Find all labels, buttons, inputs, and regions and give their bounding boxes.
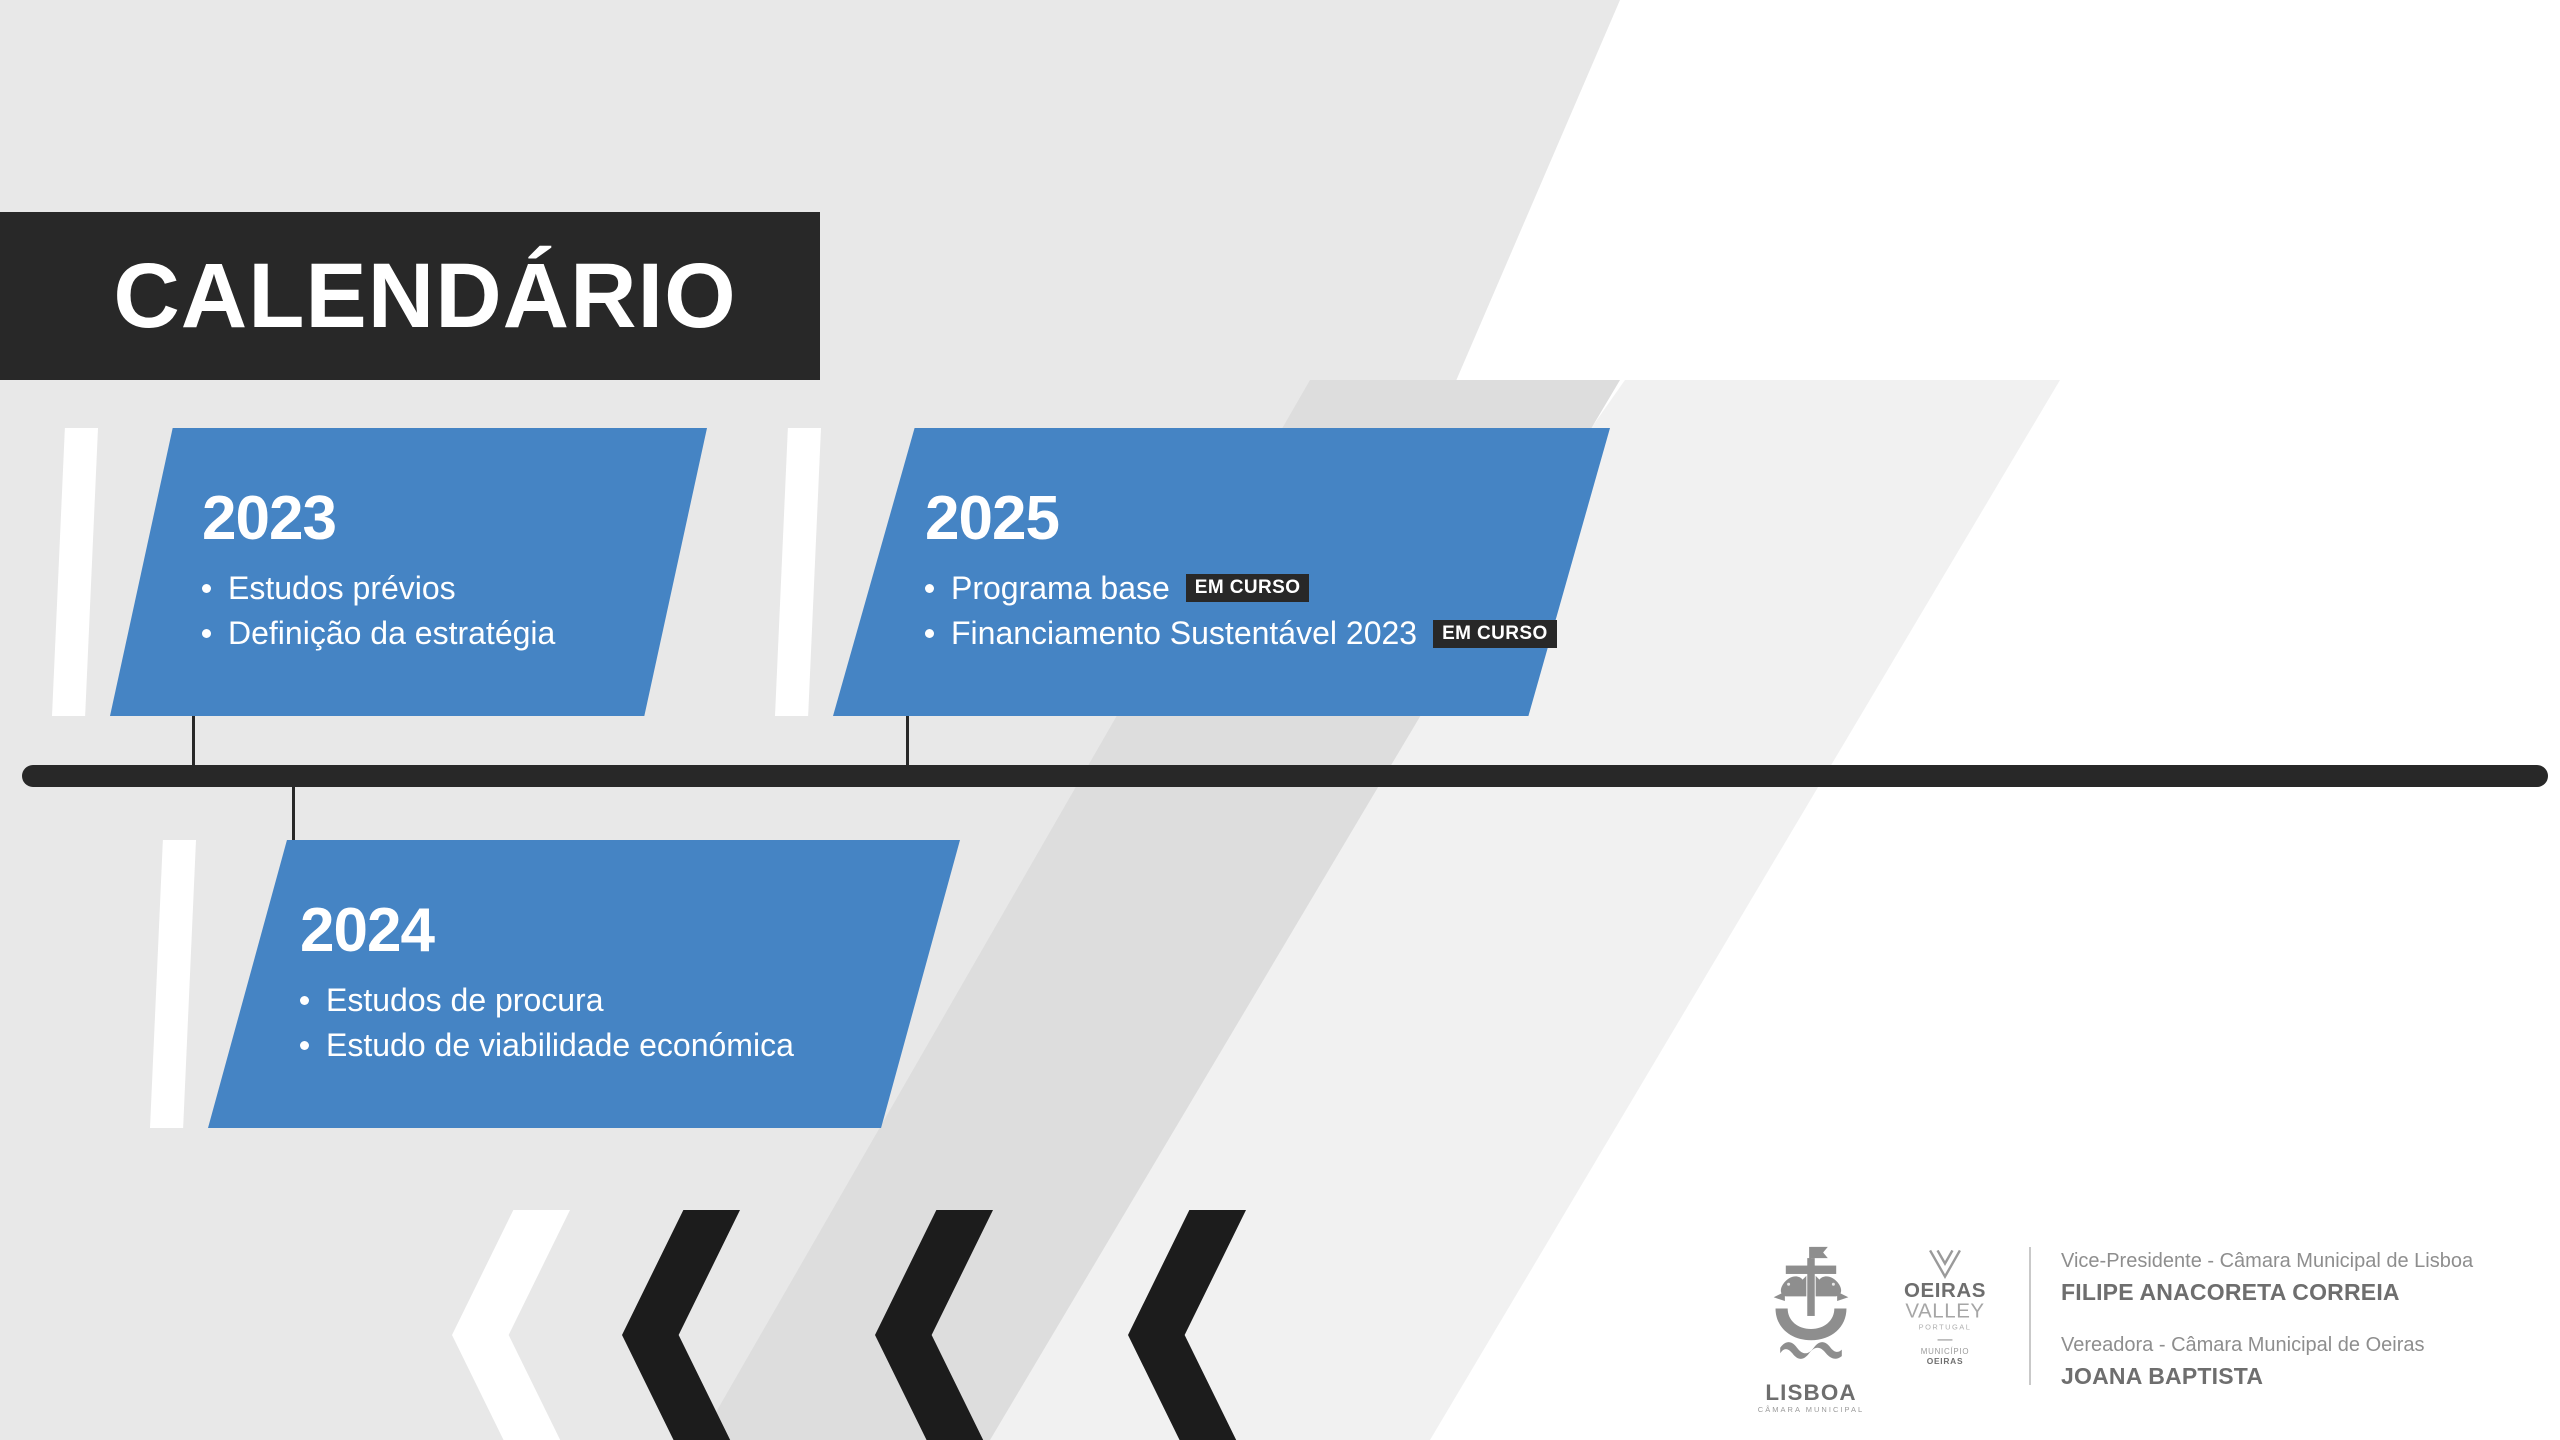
list-item: Programa base EM CURSO (925, 566, 1557, 611)
card-accent-slash (150, 840, 196, 1128)
person-role: Vereadora - Câmara Municipal de Oeiras (2061, 1331, 2473, 1360)
list-item: Estudo de viabilidade económica (300, 1023, 794, 1068)
milestone-card-2024: 2024 Estudos de procura Estudo de viabil… (150, 840, 960, 1128)
person-entry: Vice-Presidente - Câmara Municipal de Li… (2061, 1247, 2473, 1309)
milestone-year: 2024 (300, 900, 794, 962)
milestone-year: 2023 (202, 488, 555, 550)
list-item-label: Programa base (951, 566, 1170, 611)
page-title-bar: CALENDÁRIO (0, 212, 820, 380)
oeiras-line2: VALLEY (1905, 1300, 1984, 1323)
card-content: 2025 Programa base EM CURSO Financiament… (925, 428, 1557, 716)
milestone-card-2025: 2025 Programa base EM CURSO Financiament… (775, 428, 1610, 716)
bullet-dot-icon (300, 996, 309, 1005)
bullet-dot-icon (925, 584, 934, 593)
oeiras-line1: OEIRAS (1904, 1279, 1986, 1302)
bullet-dot-icon (925, 629, 934, 638)
lisboa-crest-icon (1755, 1243, 1867, 1374)
milestone-year: 2025 (925, 488, 1557, 550)
list-item-label: Estudo de viabilidade económica (326, 1023, 794, 1068)
oeiras-valley-logo: OEIRAS VALLEY PORTUGAL MUNICÍPIO OEIRAS (1889, 1243, 2001, 1371)
bullet-dot-icon (202, 629, 211, 638)
list-item-label: Estudos de procura (326, 978, 604, 1023)
card-content: 2023 Estudos prévios Definição da estrat… (202, 428, 555, 716)
card-accent-slash (52, 428, 98, 716)
timeline-axis (22, 765, 2548, 787)
oeiras-line5: OEIRAS (1927, 1356, 1964, 1366)
list-item: Estudos de procura (300, 978, 794, 1023)
timeline-connector-2023 (192, 712, 195, 774)
lisboa-wordmark: LISBOA CÂMARA MUNICIPAL (1755, 1381, 1867, 1415)
person-entry: Vereadora - Câmara Municipal de Oeiras J… (2061, 1331, 2473, 1393)
footer: LISBOA CÂMARA MUNICIPAL OEIRAS VALLEY PO… (1755, 1243, 2473, 1415)
lisboa-wordmark-text: LISBOA (1765, 1381, 1856, 1405)
milestone-item-list: Programa base EM CURSO Financiamento Sus… (925, 566, 1557, 657)
oeiras-valley-mark: OEIRAS VALLEY PORTUGAL MUNICÍPIO OEIRAS (1889, 1243, 2001, 1366)
list-item-label: Definição da estratégia (228, 611, 555, 656)
person-role: Vice-Presidente - Câmara Municipal de Li… (2061, 1247, 2473, 1276)
oeiras-line4: MUNICÍPIO (1921, 1347, 1969, 1356)
status-badge: EM CURSO (1186, 574, 1310, 602)
timeline-connector-2024 (292, 780, 295, 846)
list-item-label: Estudos prévios (228, 566, 456, 611)
people-list: Vice-Presidente - Câmara Municipal de Li… (2061, 1243, 2473, 1394)
card-content: 2024 Estudos de procura Estudo de viabil… (300, 840, 794, 1128)
milestone-item-list: Estudos prévios Definição da estratégia (202, 566, 555, 657)
milestone-card-2023: 2023 Estudos prévios Definição da estrat… (52, 428, 707, 716)
bullet-dot-icon (202, 584, 211, 593)
lisboa-subtitle-text: CÂMARA MUNICIPAL (1758, 1405, 1864, 1414)
footer-divider (2029, 1247, 2031, 1385)
list-item: Estudos prévios (202, 566, 555, 611)
person-name: FILIPE ANACORETA CORREIA (2061, 1276, 2473, 1309)
timeline-connector-2025 (906, 712, 909, 774)
milestone-item-list: Estudos de procura Estudo de viabilidade… (300, 978, 794, 1069)
list-item: Financiamento Sustentável 2023 EM CURSO (925, 611, 1557, 656)
list-item-label: Financiamento Sustentável 2023 (951, 611, 1417, 656)
lisboa-logo: LISBOA CÂMARA MUNICIPAL (1755, 1243, 1867, 1415)
status-badge: EM CURSO (1433, 620, 1557, 648)
page-title: CALENDÁRIO (83, 250, 736, 342)
bullet-dot-icon (300, 1041, 309, 1050)
oeiras-line3: PORTUGAL (1919, 1323, 1972, 1332)
list-item: Definição da estratégia (202, 611, 555, 656)
person-name: JOANA BAPTISTA (2061, 1360, 2473, 1393)
card-accent-slash (775, 428, 821, 716)
slide-canvas: CALENDÁRIO 2023 Estudos prévios Definiçã… (0, 0, 2560, 1440)
